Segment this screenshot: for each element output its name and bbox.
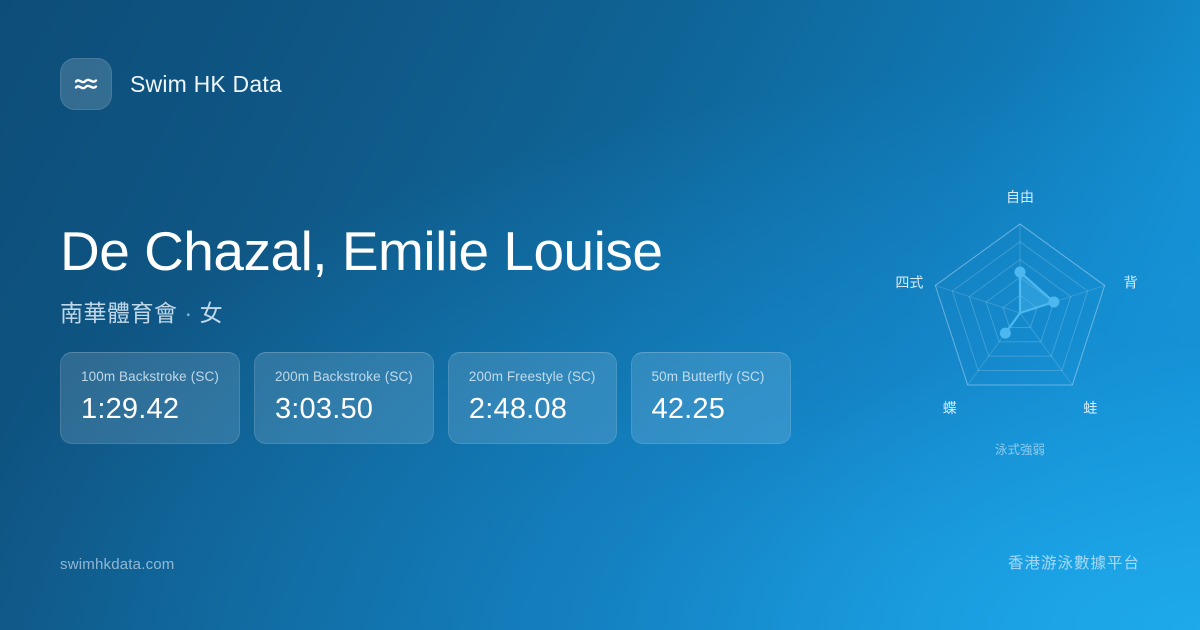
stat-card[interactable]: 200m Freestyle(SC) 2:48.08 xyxy=(448,352,617,444)
stat-card-time: 2:48.08 xyxy=(469,393,596,426)
wave-icon xyxy=(60,58,112,110)
radar-axis-label-1: 背 xyxy=(1124,275,1138,291)
stat-card-label: 100m Backstroke(SC) xyxy=(81,369,219,384)
radar-axis-label-2: 蛙 xyxy=(1083,400,1097,416)
athlete-club: 南華體育會 xyxy=(60,300,178,326)
footer-tagline: 香港游泳數據平台 xyxy=(1008,551,1140,573)
athlete-meta: 南華體育會·女 xyxy=(60,294,840,328)
stat-card-event: 200m Freestyle xyxy=(469,369,563,384)
page-title: De Chazal, Emilie Louise xyxy=(60,222,840,280)
stat-card-pool: (SC) xyxy=(567,369,595,384)
stat-card-time: 42.25 xyxy=(652,393,770,426)
stat-card-pool: (SC) xyxy=(191,369,219,384)
brand-name: Swim HK Data xyxy=(130,71,282,98)
stat-card-label: 200m Freestyle(SC) xyxy=(469,369,596,384)
stat-card-event: 50m Butterfly xyxy=(652,369,733,384)
stat-card[interactable]: 50m Butterfly(SC) 42.25 xyxy=(631,352,791,444)
radar-axis-labels: 自由背蛙蝶四式 xyxy=(895,189,1137,416)
radar-caption: 泳式強弱 xyxy=(995,443,1045,457)
radar-axis-label-3: 蝶 xyxy=(943,400,957,416)
stroke-radar-chart: 自由背蛙蝶四式 泳式強弱 xyxy=(880,168,1160,468)
brand-header: Swim HK Data xyxy=(60,58,282,110)
meta-separator: · xyxy=(178,300,200,326)
stat-card-time: 3:03.50 xyxy=(275,393,413,426)
athlete-gender: 女 xyxy=(200,300,224,326)
stat-card[interactable]: 200m Backstroke(SC) 3:03.50 xyxy=(254,352,434,444)
stat-card-time: 1:29.42 xyxy=(81,393,219,426)
radar-axis-label-0: 自由 xyxy=(1006,189,1034,205)
stat-card-event: 100m Backstroke xyxy=(81,369,187,384)
radar-axis-label-4: 四式 xyxy=(895,275,923,291)
athlete-hero: De Chazal, Emilie Louise 南華體育會·女 xyxy=(60,222,840,328)
stat-card-list: 100m Backstroke(SC) 1:29.42 200m Backstr… xyxy=(60,352,791,444)
footer-site-url[interactable]: swimhkdata.com xyxy=(60,556,175,573)
stat-card-label: 50m Butterfly(SC) xyxy=(652,369,770,384)
stat-card-label: 200m Backstroke(SC) xyxy=(275,369,413,384)
stat-card-pool: (SC) xyxy=(385,369,413,384)
stat-card-pool: (SC) xyxy=(736,369,764,384)
stat-card-event: 200m Backstroke xyxy=(275,369,381,384)
stat-card[interactable]: 100m Backstroke(SC) 1:29.42 xyxy=(60,352,240,444)
